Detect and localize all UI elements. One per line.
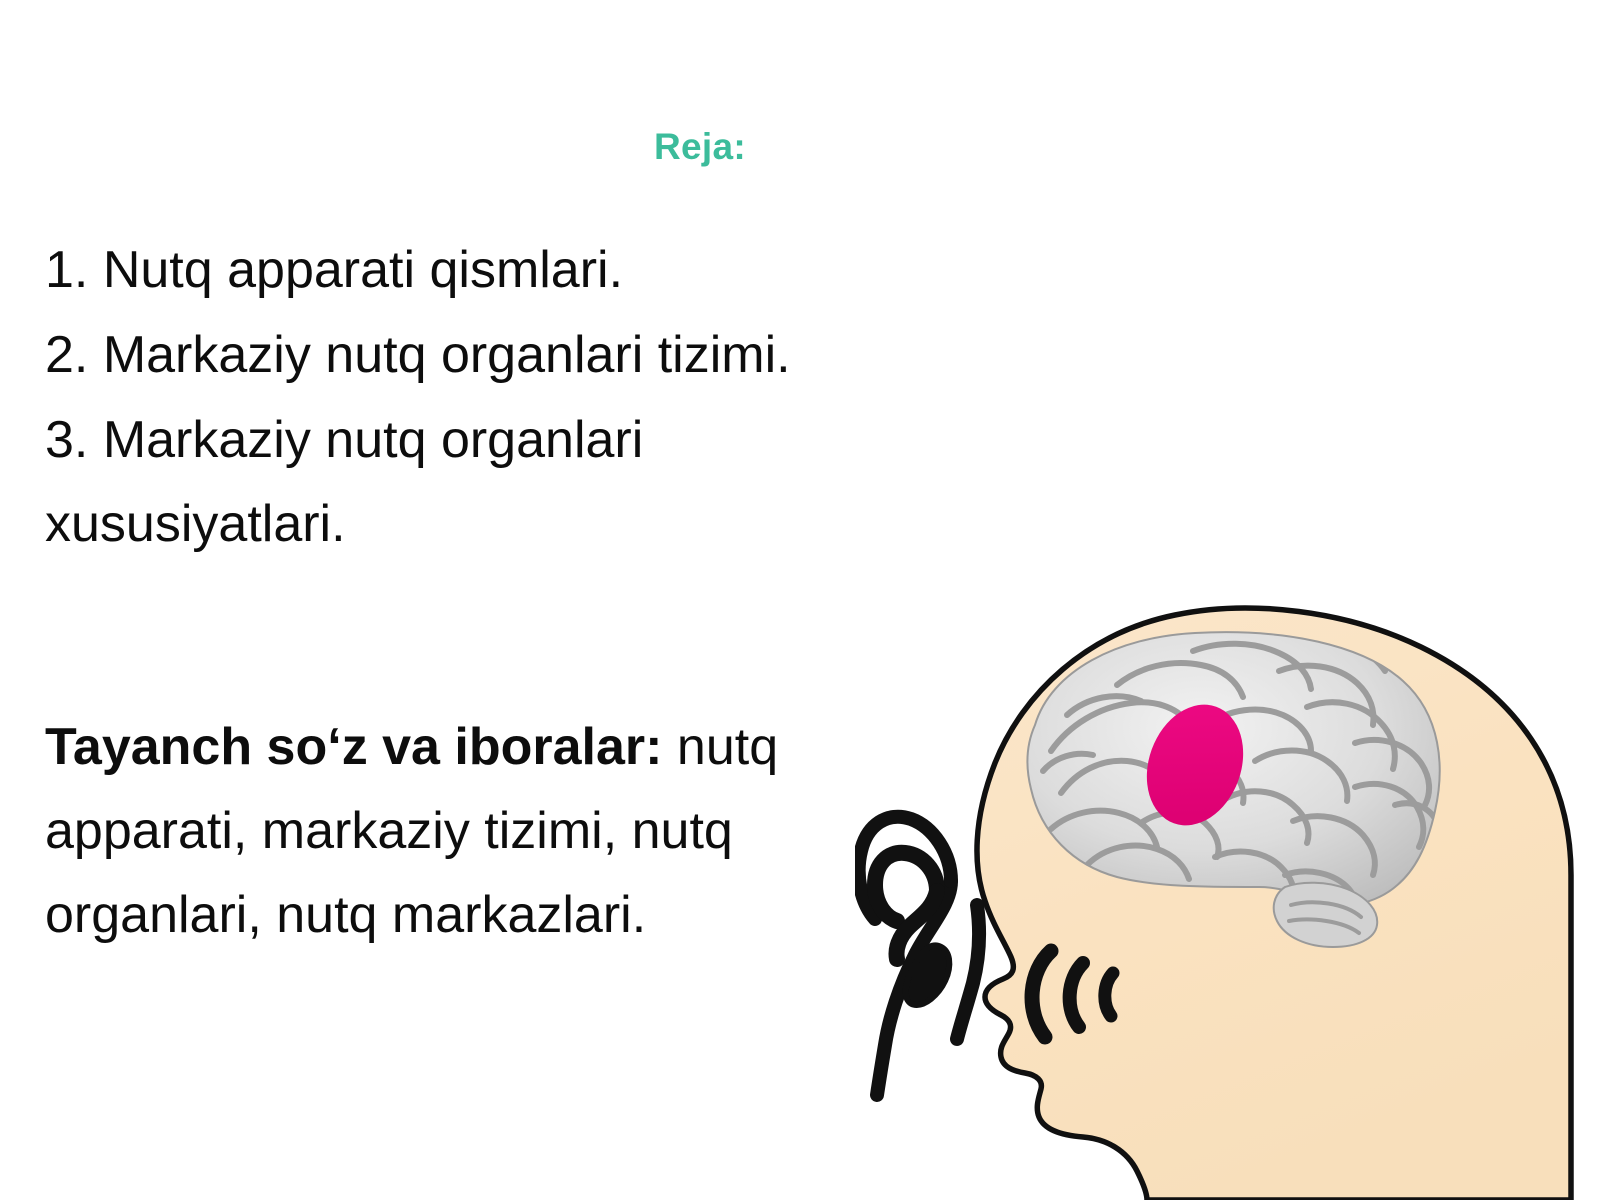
head-brain-illustration bbox=[855, 575, 1600, 1200]
plan-item-3: 3. Markaziy nutq organlari xususiyatlari… bbox=[45, 398, 1005, 568]
keywords-paragraph: Tayanch so‘z va iboralar: nutq apparati,… bbox=[45, 705, 950, 958]
slide-canvas: Reja: 1. Nutq apparati qismlari. 2. Mark… bbox=[0, 0, 1600, 1200]
ear-icon bbox=[859, 817, 979, 1095]
plan-item-2: 2. Markaziy nutq organlari tizimi. bbox=[45, 313, 1005, 398]
keywords-lead-label: Tayanch so‘z va iboralar: bbox=[45, 718, 662, 776]
plan-item-1: 1. Nutq apparati qismlari. bbox=[45, 228, 1005, 313]
plan-list: 1. Nutq apparati qismlari. 2. Markaziy n… bbox=[45, 228, 1005, 567]
page-title: Reja: bbox=[0, 126, 1400, 168]
